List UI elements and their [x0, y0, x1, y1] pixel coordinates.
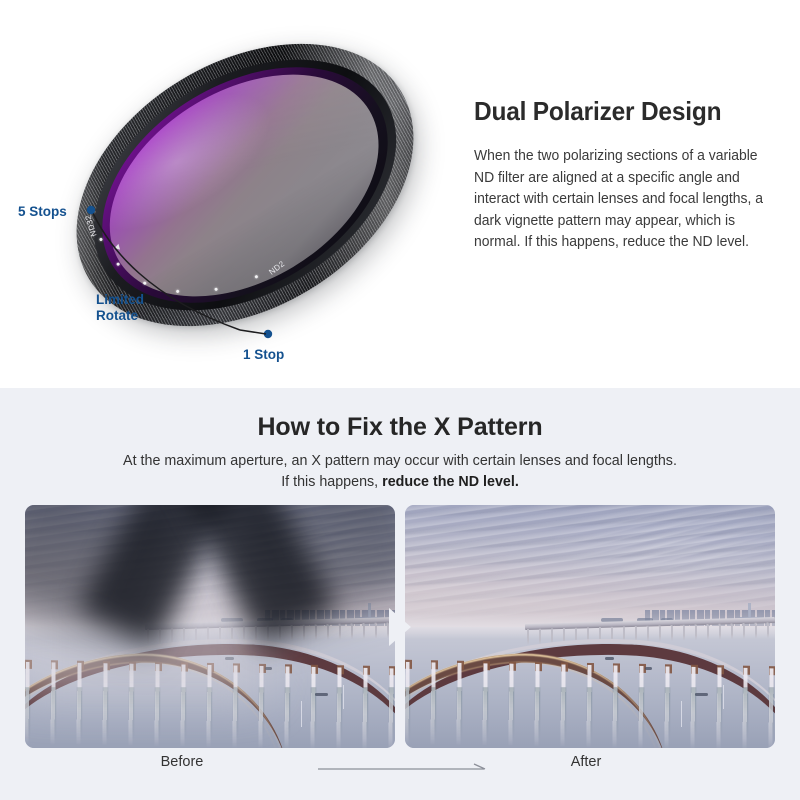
cloud-streaks-secondary [555, 509, 775, 579]
section-subtitle: At the maximum aperture, an X pattern ma… [0, 451, 800, 493]
chevron-right-icon [389, 608, 411, 646]
body-paragraph: When the two polarizing sections of a va… [474, 146, 780, 254]
subtitle-line-1: At the maximum aperture, an X pattern ma… [123, 453, 677, 469]
nd-filter-illustration: ND32 ND2 [45, 10, 445, 360]
before-label: Before [161, 754, 204, 770]
lamp-post [301, 701, 302, 727]
arrow-right-icon [318, 763, 490, 775]
dual-polarizer-section: ND32 ND2 5 Stops 1 Stop Limited Rotate D… [0, 0, 800, 388]
water-reflection [405, 687, 775, 748]
bridge-scene-after [405, 505, 775, 748]
subtitle-line-2-prefix: If this happens, [281, 474, 382, 490]
water-reflection [25, 687, 395, 748]
comparison-footer: Before After [0, 754, 800, 794]
boat [225, 657, 234, 660]
lamp-post [343, 685, 344, 709]
section-title: How to Fix the X Pattern [0, 412, 800, 442]
subtitle-line-2-emphasis: reduce the ND level. [382, 474, 519, 490]
filter-stage: ND32 ND2 [0, 0, 507, 388]
after-label: After [571, 754, 602, 770]
cloud-streaks-secondary [175, 509, 395, 579]
boat [645, 667, 652, 670]
boat [265, 667, 272, 670]
infographic-page: ND32 ND2 5 Stops 1 Stop Limited Rotate D… [0, 0, 800, 800]
x-pattern-section: How to Fix the X Pattern At the maximum … [0, 388, 800, 800]
lamp-post [681, 701, 682, 727]
after-photo[interactable] [405, 505, 775, 748]
bridge-scene-before [25, 505, 395, 748]
lamp-post [723, 685, 724, 709]
headline-block: Dual Polarizer Design When the two polar… [474, 96, 786, 254]
boat [605, 657, 614, 660]
before-after-comparison [25, 505, 775, 748]
before-photo[interactable] [25, 505, 395, 748]
boat [695, 693, 708, 696]
page-title: Dual Polarizer Design [474, 96, 767, 126]
boat [315, 693, 328, 696]
